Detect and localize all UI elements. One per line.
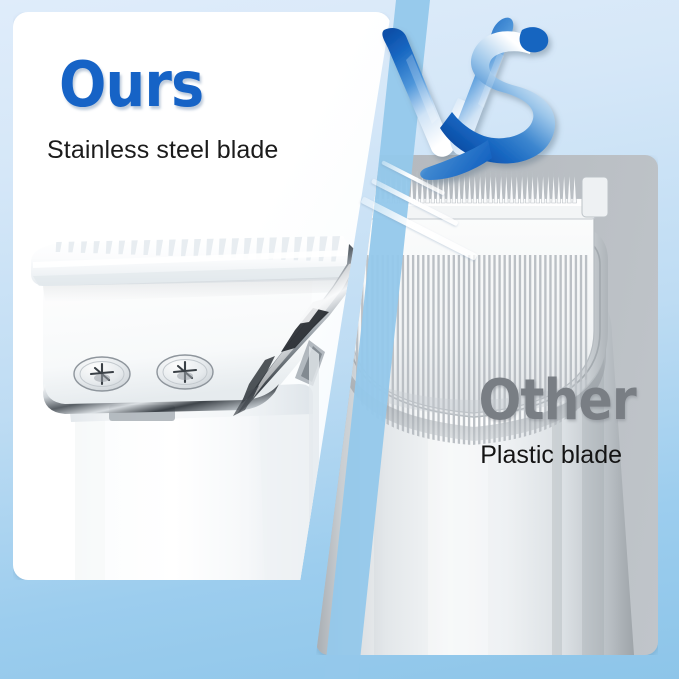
other-subtitle: Plastic blade [480,441,622,470]
ours-subtitle: Stainless steel blade [47,136,278,165]
ours-title: Ours [59,54,203,116]
comparison-graphic: Ours Stainless steel blade [0,0,679,679]
screw-left [74,357,130,391]
screw-right [157,355,213,389]
other-title: Other [479,373,636,429]
versus-label: VS [0,0,1,1]
ours-panel: Ours Stainless steel blade [13,12,391,580]
